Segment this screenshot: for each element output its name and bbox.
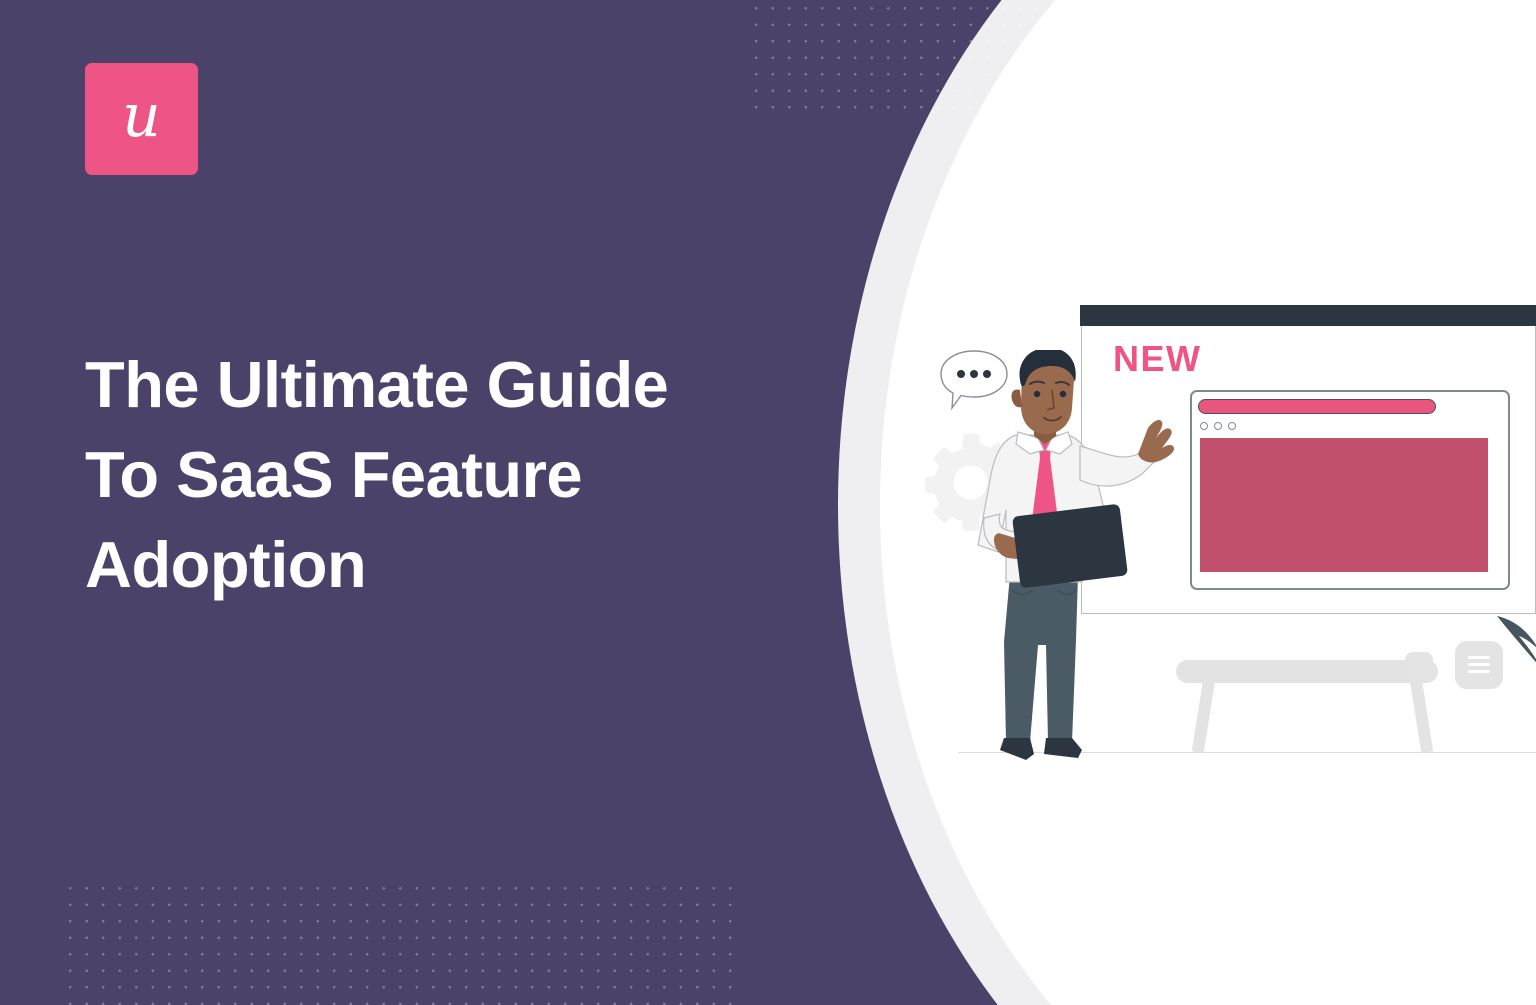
table-leg-right <box>1410 680 1433 753</box>
browser-traffic-lights <box>1200 422 1236 430</box>
hero-banner: u The Ultimate Guide To SaaS Feature Ado… <box>0 0 1536 1005</box>
feature-announcement-illustration: NEW <box>0 0 1536 1005</box>
browser-content-area <box>1200 438 1488 572</box>
presenter-character <box>960 350 1190 760</box>
traffic-light-dot <box>1228 422 1236 430</box>
board-header-bar <box>1080 305 1536 326</box>
traffic-light-dot <box>1200 422 1208 430</box>
decor-tile-small <box>1405 652 1433 680</box>
hamburger-line <box>1468 670 1490 673</box>
leaf-arrow-icon <box>1495 610 1536 670</box>
hamburger-line <box>1468 663 1490 666</box>
table-surface <box>1176 660 1438 683</box>
table-leg-left <box>1192 680 1215 753</box>
traffic-light-dot <box>1214 422 1222 430</box>
browser-window-mock <box>1190 390 1510 590</box>
hamburger-line <box>1468 656 1490 659</box>
browser-address-bar <box>1198 399 1436 414</box>
